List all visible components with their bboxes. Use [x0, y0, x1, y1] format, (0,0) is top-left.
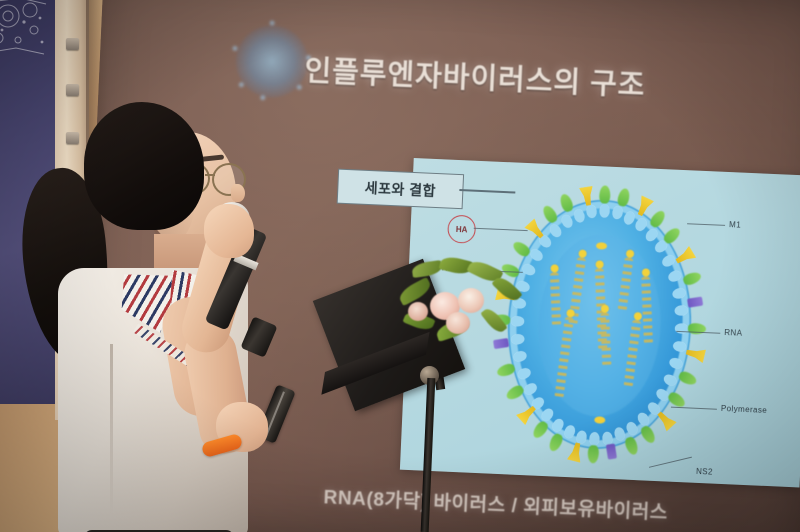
- na-spike: [673, 245, 697, 267]
- rna-segment: [552, 264, 559, 326]
- na-spike: [685, 345, 707, 363]
- rna-label: RNA: [724, 328, 742, 338]
- right-hand: [204, 204, 254, 258]
- ns2-label: NS2: [696, 467, 713, 477]
- column-hinge: [66, 84, 79, 96]
- slide-title: 인플루엔자바이러스의 구조: [304, 47, 725, 108]
- na-spike: [579, 186, 596, 207]
- rna-segment: [644, 268, 651, 344]
- m2-spike: [606, 443, 617, 459]
- slide-caption: RNA(8가닥) 바이러스 / 외피보유바이러스: [323, 482, 794, 530]
- ha-spike: [599, 185, 611, 203]
- ha-spike: [677, 369, 698, 387]
- ha-spike: [530, 419, 550, 440]
- lipid-bead: [589, 432, 600, 445]
- column-hinge: [66, 38, 79, 50]
- rna-segment: [603, 305, 610, 367]
- banner-pattern: [0, 0, 52, 66]
- ha-spike: [639, 424, 658, 445]
- ha-spike: [616, 188, 631, 208]
- flower-bouquet: [396, 258, 530, 366]
- ha-spike: [540, 203, 559, 224]
- virus-particle-icon: [234, 24, 309, 99]
- hair-top: [84, 102, 204, 230]
- m1-label: M1: [729, 220, 741, 230]
- ha-spike: [587, 445, 599, 463]
- ha-spike: [504, 384, 525, 403]
- ha-spike: [510, 239, 531, 259]
- m2-spike: [687, 296, 703, 307]
- ha-spike: [547, 432, 565, 453]
- lipid-bead: [674, 305, 688, 316]
- ha-spike: [681, 270, 702, 286]
- nose: [231, 184, 245, 202]
- shirt-fold: [110, 344, 113, 514]
- ha-spike: [623, 436, 639, 457]
- na-spike: [567, 441, 585, 463]
- glasses-bridge: [205, 174, 215, 176]
- photo-stage: 인플루엔자바이러스의 구조 세포와 결합 HA NA M1 RNA: [0, 0, 800, 532]
- ha-spike: [559, 192, 575, 213]
- ha-spike: [648, 208, 668, 229]
- presenter: [18, 98, 308, 532]
- callout-box: 세포와 결합: [337, 169, 464, 210]
- na-spike: [633, 195, 654, 218]
